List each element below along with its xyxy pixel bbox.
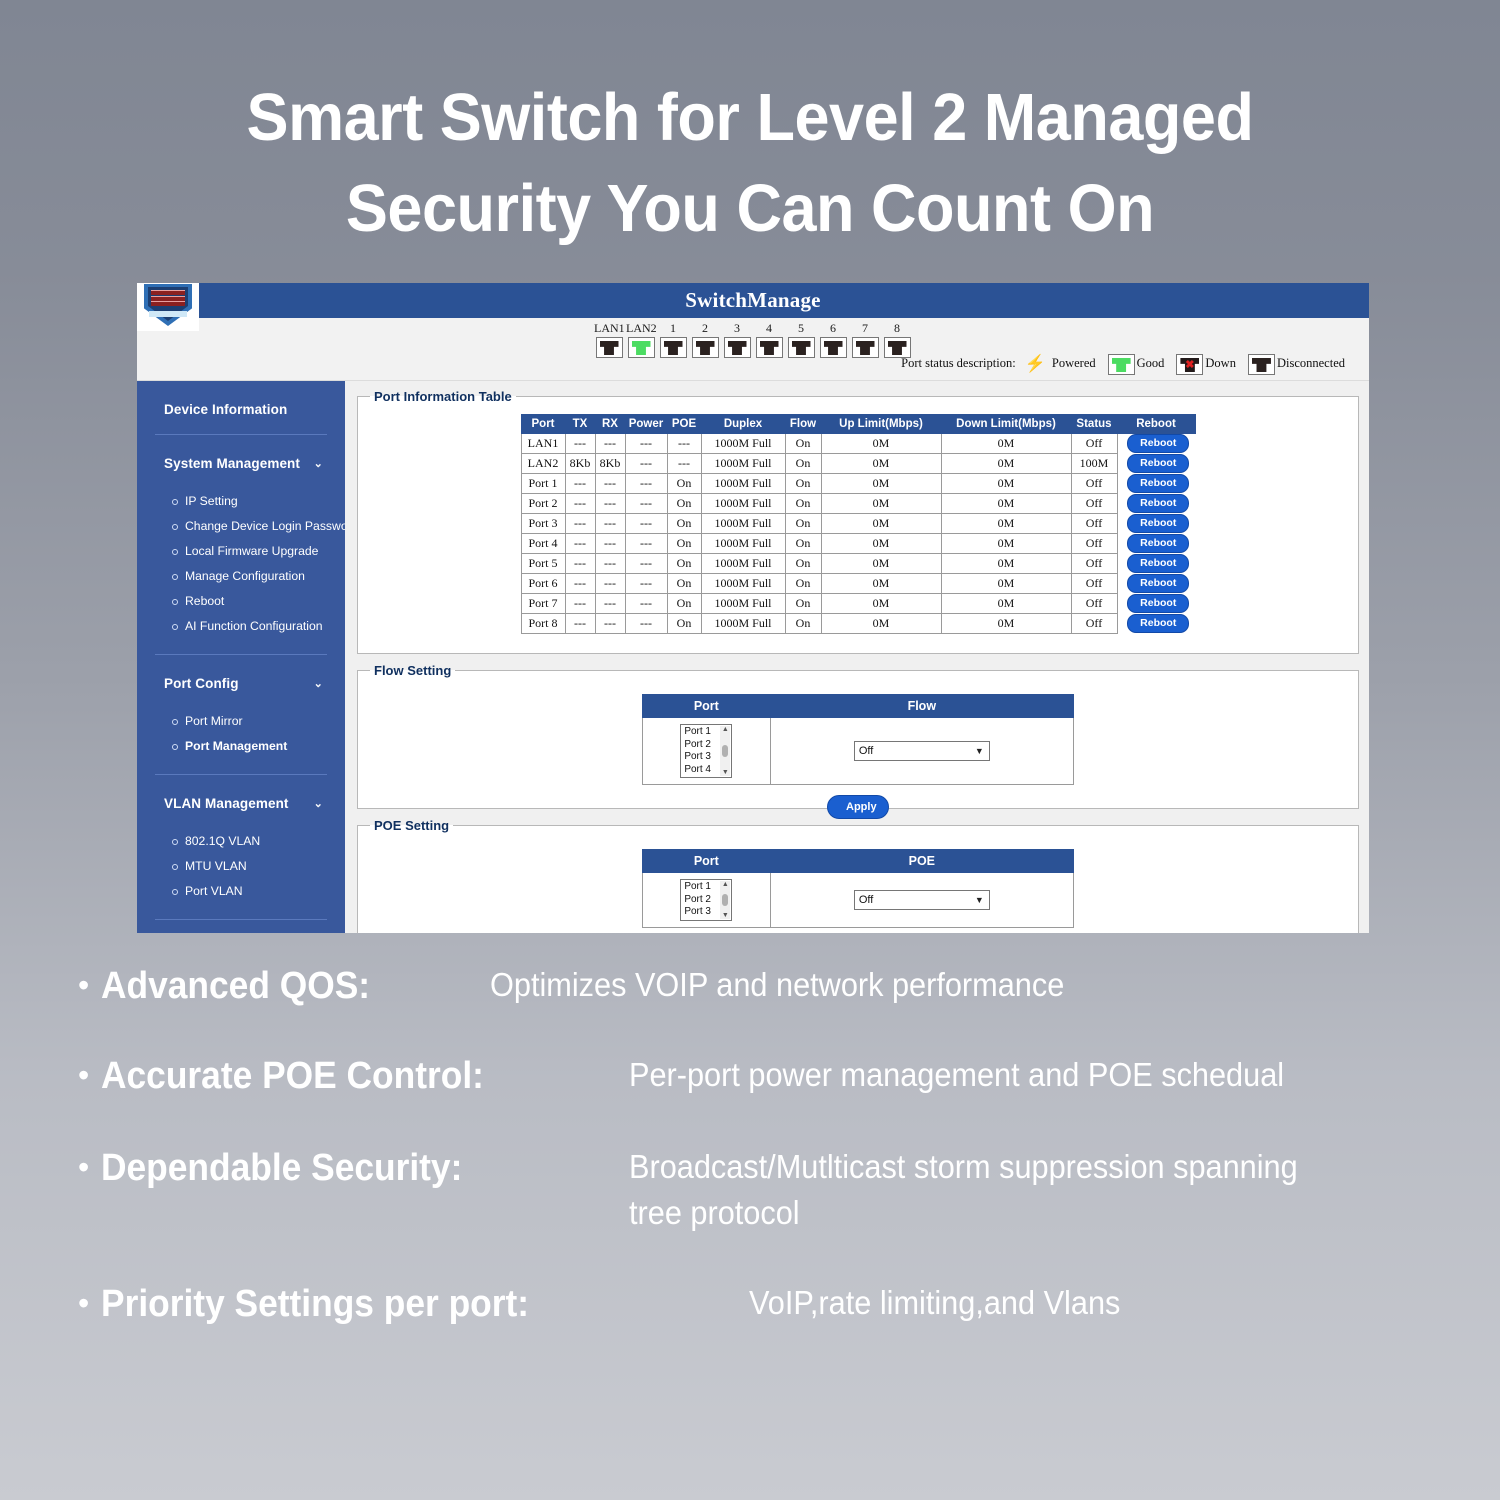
flow-setting-legend: Flow Setting	[370, 663, 455, 678]
flow-apply-button[interactable]: Apply	[827, 795, 889, 819]
cell-power: ---	[625, 474, 667, 494]
port-column-lan1: LAN1	[594, 321, 624, 358]
flow-value-selected: Off	[859, 745, 873, 757]
cell-duplex: 1000M Full	[701, 574, 785, 594]
cell-power: ---	[625, 594, 667, 614]
cell-reboot: Reboot	[1117, 514, 1195, 534]
cell-reboot: Reboot	[1117, 494, 1195, 514]
cell-tx: ---	[565, 614, 595, 634]
feature-description: Per-port power management and POE schedu…	[629, 1052, 1284, 1098]
flow-value-cell: Off ▼	[770, 718, 1073, 785]
powered-bolt-icon: ⚡	[1025, 355, 1046, 372]
port-column-1: 1	[658, 321, 688, 358]
cell-down-limit-mbps: 0M	[941, 474, 1071, 494]
cell-up-limit-mbps: 0M	[821, 534, 941, 554]
table-row: Port 5---------On1000M FullOn0M0MOffRebo…	[521, 554, 1195, 574]
cell-up-limit-mbps: 0M	[821, 494, 941, 514]
table-header-row: PortTXRXPowerPOEDuplexFlowUp Limit(Mbps)…	[521, 415, 1195, 434]
chevron-down-icon: ▼	[975, 893, 984, 907]
reboot-button[interactable]: Reboot	[1127, 454, 1189, 473]
cell-duplex: 1000M Full	[701, 494, 785, 514]
port-status-strip: LAN1LAN212345678 Port status description…	[137, 318, 1369, 381]
column-header-reboot: Reboot	[1117, 415, 1195, 434]
bullet-icon: •	[78, 1280, 89, 1326]
sidebar-group-vlan-management: VLAN Management⌄802.1Q VLANMTU VLANPort …	[137, 775, 345, 919]
cell-status: Off	[1071, 574, 1117, 594]
column-header-power: Power	[625, 415, 667, 434]
cell-tx: ---	[565, 514, 595, 534]
sidebar-item-mtu-vlan[interactable]: MTU VLAN	[155, 853, 327, 878]
feature-row: •Accurate POE Control:Per-port power man…	[78, 1052, 1438, 1100]
cell-poe: On	[667, 514, 701, 534]
sidebar-group-label: Port Config	[164, 676, 239, 691]
cell-down-limit-mbps: 0M	[941, 514, 1071, 534]
table-row: LAN1------------1000M FullOn0M0MOffReboo…	[521, 434, 1195, 454]
cell-port: Port 2	[521, 494, 565, 514]
feature-term: Advanced QOS:	[101, 962, 450, 1010]
content-area: Port Information Table PortTXRXPowerPOED…	[345, 381, 1369, 933]
port-column-5: 5	[786, 321, 816, 358]
column-header-tx: TX	[565, 415, 595, 434]
table-row: Port 3---------On1000M FullOn0M0MOffRebo…	[521, 514, 1195, 534]
legend-disconnected-label: Disconnected	[1277, 356, 1345, 371]
cell-duplex: 1000M Full	[701, 434, 785, 454]
cell-down-limit-mbps: 0M	[941, 534, 1071, 554]
cell-duplex: 1000M Full	[701, 454, 785, 474]
cell-flow: On	[785, 574, 821, 594]
port-label: 5	[786, 321, 816, 335]
cell-down-limit-mbps: 0M	[941, 434, 1071, 454]
cell-port: Port 6	[521, 574, 565, 594]
feature-description: Optimizes VOIP and network performance	[490, 962, 1064, 1008]
app-titlebar: SwitchManage	[137, 283, 1369, 318]
sidebar-item-port-mirror[interactable]: Port Mirror	[155, 708, 327, 733]
page-headline: Smart Switch for Level 2 Managed Securit…	[45, 72, 1455, 254]
cell-duplex: 1000M Full	[701, 534, 785, 554]
feature-term: Accurate POE Control:	[101, 1052, 585, 1100]
poe-setting-legend: POE Setting	[370, 818, 453, 833]
feature-row: •Priority Settings per port:VoIP,rate li…	[78, 1280, 1438, 1328]
reboot-button[interactable]: Reboot	[1127, 474, 1189, 493]
column-header-down-limit-mbps: Down Limit(Mbps)	[941, 415, 1071, 434]
legend-disconnected-jack-icon	[1248, 354, 1275, 375]
cell-status: Off	[1071, 614, 1117, 634]
cell-reboot: Reboot	[1117, 574, 1195, 594]
cell-tx: ---	[565, 534, 595, 554]
column-header-poe: POE	[667, 415, 701, 434]
sidebar-group-header-port-config[interactable]: Port Config⌄	[155, 655, 327, 708]
sidebar-item-ip-setting[interactable]: IP Setting	[155, 488, 327, 513]
cell-down-limit-mbps: 0M	[941, 614, 1071, 634]
legend-good-jack-icon	[1108, 354, 1135, 375]
reboot-button[interactable]: Reboot	[1127, 534, 1189, 553]
cell-rx: 8Kb	[595, 454, 625, 474]
legend-down-label: Down	[1205, 356, 1236, 371]
legend-down-jack-icon: ✖	[1176, 354, 1203, 375]
feature-term: Dependable Security:	[101, 1144, 585, 1192]
sidebar-sublist: IP SettingChange Device Login PasswordLo…	[155, 488, 327, 654]
bullet-icon: •	[78, 1144, 89, 1190]
cell-up-limit-mbps: 0M	[821, 594, 941, 614]
flow-value-header: Flow	[770, 695, 1073, 718]
chevron-down-icon: ▼	[975, 744, 984, 758]
cell-rx: ---	[595, 614, 625, 634]
cell-duplex: 1000M Full	[701, 554, 785, 574]
cell-reboot: Reboot	[1117, 554, 1195, 574]
table-row: Port 2---------On1000M FullOn0M0MOffRebo…	[521, 494, 1195, 514]
cell-down-limit-mbps: 0M	[941, 574, 1071, 594]
port-status-legend-label: Port status description:	[901, 356, 1016, 371]
port-jack-disconnected-icon[interactable]	[660, 337, 687, 358]
sidebar-group-header-device-information[interactable]: Device Information	[155, 381, 327, 434]
port-label: 1	[658, 321, 688, 335]
column-header-rx: RX	[595, 415, 625, 434]
cell-up-limit-mbps: 0M	[821, 454, 941, 474]
cell-power: ---	[625, 574, 667, 594]
cell-duplex: 1000M Full	[701, 614, 785, 634]
cell-rx: ---	[595, 594, 625, 614]
port-column-2: 2	[690, 321, 720, 358]
poe-value-header: POE	[770, 850, 1073, 873]
cell-tx: 8Kb	[565, 454, 595, 474]
headline-line-2: Security You Can Count On	[45, 163, 1455, 254]
cell-status: Off	[1071, 514, 1117, 534]
port-column-lan2: LAN2	[626, 321, 656, 358]
table-row: LAN28Kb8Kb------1000M FullOn0M0M100MRebo…	[521, 454, 1195, 474]
port-jack-disconnected-icon[interactable]	[692, 337, 719, 358]
port-column-3: 3	[722, 321, 752, 358]
sidebar-item-port-vlan[interactable]: Port VLAN	[155, 878, 327, 903]
headline-line-1: Smart Switch for Level 2 Managed	[247, 80, 1254, 155]
cell-rx: ---	[595, 434, 625, 454]
cell-poe: On	[667, 614, 701, 634]
cell-poe: ---	[667, 454, 701, 474]
sidebar-item-change-device-login-password[interactable]: Change Device Login Password	[155, 513, 327, 538]
poe-port-cell: Port 1Port 2Port 3▲▼	[643, 873, 771, 928]
sidebar-group-device-information: Device Information	[137, 381, 345, 434]
brand-logo	[137, 283, 199, 331]
cell-flow: On	[785, 594, 821, 614]
port-information-legend: Port Information Table	[370, 389, 516, 404]
reboot-button[interactable]: Reboot	[1127, 554, 1189, 573]
sidebar-group-label: VLAN Management	[164, 796, 289, 811]
flow-setting-table: Port Flow Port 1Port 2Port 3Port 4▲▼ Off	[642, 694, 1074, 785]
cell-reboot: Reboot	[1117, 534, 1195, 554]
cell-tx: ---	[565, 574, 595, 594]
port-column-7: 7	[850, 321, 880, 358]
shield-logo-icon	[144, 284, 192, 326]
reboot-button[interactable]: Reboot	[1127, 434, 1189, 453]
cell-port: LAN1	[521, 434, 565, 454]
port-label: 6	[818, 321, 848, 335]
reboot-button[interactable]: Reboot	[1127, 574, 1189, 593]
cell-reboot: Reboot	[1117, 434, 1195, 454]
port-label: 3	[722, 321, 752, 335]
port-jack-good-icon[interactable]	[628, 337, 655, 358]
sidebar-sublist: 802.1Q VLANMTU VLANPort VLAN	[155, 828, 327, 919]
cell-up-limit-mbps: 0M	[821, 434, 941, 454]
port-status-legend: Port status description: ⚡ Powered Good …	[901, 352, 1357, 375]
poe-value-selected: Off	[859, 894, 873, 906]
sidebar-group-security: Security⌄Storm ControlPower Supply Adapt…	[137, 920, 345, 933]
sidebar-item-manage-configuration[interactable]: Manage Configuration	[155, 563, 327, 588]
sidebar-item-802-1q-vlan[interactable]: 802.1Q VLAN	[155, 828, 327, 853]
cell-duplex: 1000M Full	[701, 474, 785, 494]
cell-port: LAN2	[521, 454, 565, 474]
chevron-down-icon: ⌄	[314, 677, 323, 690]
cell-port: Port 8	[521, 614, 565, 634]
cell-port: Port 1	[521, 474, 565, 494]
cell-tx: ---	[565, 554, 595, 574]
port-information-table: PortTXRXPowerPOEDuplexFlowUp Limit(Mbps)…	[521, 414, 1196, 634]
cell-up-limit-mbps: 0M	[821, 574, 941, 594]
cell-port: Port 4	[521, 534, 565, 554]
cell-port: Port 3	[521, 514, 565, 534]
port-label: 2	[690, 321, 720, 335]
sidebar-group-header-vlan-management[interactable]: VLAN Management⌄	[155, 775, 327, 828]
bullet-icon: •	[78, 962, 89, 1008]
cell-down-limit-mbps: 0M	[941, 594, 1071, 614]
scroll-down-arrow-icon[interactable]: ▼	[722, 912, 729, 919]
cell-reboot: Reboot	[1117, 454, 1195, 474]
scrollbar-thumb[interactable]	[722, 745, 728, 757]
cell-flow: On	[785, 514, 821, 534]
table-row: Port 7---------On1000M FullOn0M0MOffRebo…	[521, 594, 1195, 614]
feature-description: VoIP,rate limiting,and Vlans	[749, 1280, 1120, 1326]
bullet-icon: •	[78, 1052, 89, 1098]
table-row: Port 8---------On1000M FullOn0M0MOffRebo…	[521, 614, 1195, 634]
listbox-scrollbar[interactable]: ▲▼	[720, 726, 730, 776]
flow-port-cell: Port 1Port 2Port 3Port 4▲▼	[643, 718, 771, 785]
cell-poe: On	[667, 594, 701, 614]
cell-tx: ---	[565, 434, 595, 454]
cell-power: ---	[625, 534, 667, 554]
cell-port: Port 7	[521, 594, 565, 614]
port-jack-disconnected-icon[interactable]	[788, 337, 815, 358]
port-jack-disconnected-icon[interactable]	[724, 337, 751, 358]
scroll-up-arrow-icon[interactable]: ▲	[722, 726, 729, 733]
app-title: SwitchManage	[685, 288, 820, 313]
cell-down-limit-mbps: 0M	[941, 454, 1071, 474]
poe-value-cell: Off ▼	[770, 873, 1073, 928]
cell-rx: ---	[595, 574, 625, 594]
reboot-button[interactable]: Reboot	[1127, 594, 1189, 613]
cell-up-limit-mbps: 0M	[821, 514, 941, 534]
cell-poe: On	[667, 554, 701, 574]
feature-list: •Advanced QOS:Optimizes VOIP and network…	[78, 962, 1438, 1370]
cell-status: Off	[1071, 474, 1117, 494]
flow-value-select[interactable]: Off ▼	[854, 741, 990, 761]
port-label: 7	[850, 321, 880, 335]
reboot-button[interactable]: Reboot	[1127, 494, 1189, 513]
cell-status: Off	[1071, 534, 1117, 554]
cell-down-limit-mbps: 0M	[941, 554, 1071, 574]
cell-status: Off	[1071, 554, 1117, 574]
cell-power: ---	[625, 434, 667, 454]
chevron-down-icon: ⌄	[314, 797, 323, 810]
sidebar-group-label: System Management	[164, 456, 300, 471]
cell-duplex: 1000M Full	[701, 514, 785, 534]
sidebar-nav: Device InformationSystem Management⌄IP S…	[137, 381, 345, 933]
legend-good-label: Good	[1137, 356, 1165, 371]
port-jack-disconnected-icon[interactable]	[756, 337, 783, 358]
listbox-scrollbar[interactable]: ▲▼	[720, 881, 730, 919]
cell-flow: On	[785, 494, 821, 514]
cell-reboot: Reboot	[1117, 614, 1195, 634]
port-label: LAN1	[594, 321, 624, 335]
column-header-duplex: Duplex	[701, 415, 785, 434]
port-label: LAN2	[626, 321, 656, 335]
port-jack-disconnected-icon[interactable]	[596, 337, 623, 358]
switch-admin-ui: SwitchManage LAN1LAN212345678 Port statu…	[137, 283, 1369, 933]
port-label: 4	[754, 321, 784, 335]
cell-status: 100M	[1071, 454, 1117, 474]
feature-description: Broadcast/Mutlticast storm suppression s…	[629, 1144, 1336, 1236]
cell-poe: ---	[667, 434, 701, 454]
cell-power: ---	[625, 554, 667, 574]
ui-body: Device InformationSystem Management⌄IP S…	[137, 381, 1369, 933]
poe-port-listbox[interactable]: Port 1Port 2Port 3▲▼	[680, 879, 732, 921]
cell-port: Port 5	[521, 554, 565, 574]
cell-flow: On	[785, 434, 821, 454]
sidebar-group-system-management: System Management⌄IP SettingChange Devic…	[137, 435, 345, 654]
legend-powered-label: Powered	[1052, 356, 1096, 371]
port-column-4: 4	[754, 321, 784, 358]
cell-status: Off	[1071, 594, 1117, 614]
cell-power: ---	[625, 454, 667, 474]
sidebar-group-label: Device Information	[164, 402, 287, 417]
cell-duplex: 1000M Full	[701, 594, 785, 614]
cell-power: ---	[625, 514, 667, 534]
cell-poe: On	[667, 494, 701, 514]
sidebar-item-port-management[interactable]: Port Management	[155, 733, 327, 758]
flow-setting-section: Flow Setting Port Flow Port 1Port 2Port …	[357, 663, 1359, 809]
cell-rx: ---	[595, 514, 625, 534]
cell-status: Off	[1071, 494, 1117, 514]
poe-port-header: Port	[643, 850, 771, 873]
cell-flow: On	[785, 554, 821, 574]
cell-flow: On	[785, 534, 821, 554]
cell-up-limit-mbps: 0M	[821, 474, 941, 494]
column-header-up-limit-mbps: Up Limit(Mbps)	[821, 415, 941, 434]
table-row: Port 4---------On1000M FullOn0M0MOffRebo…	[521, 534, 1195, 554]
cell-poe: On	[667, 574, 701, 594]
port-jack-disconnected-icon[interactable]	[820, 337, 847, 358]
scroll-up-arrow-icon[interactable]: ▲	[722, 881, 729, 888]
poe-value-select[interactable]: Off ▼	[854, 890, 990, 910]
poe-setting-section: POE Setting Port POE Port 1Port 2Port 3▲…	[357, 818, 1359, 933]
flow-port-header: Port	[643, 695, 771, 718]
reboot-button[interactable]: Reboot	[1127, 514, 1189, 533]
cell-power: ---	[625, 494, 667, 514]
cell-tx: ---	[565, 474, 595, 494]
cell-status: Off	[1071, 434, 1117, 454]
cell-rx: ---	[595, 554, 625, 574]
cell-poe: On	[667, 474, 701, 494]
table-row: Port 1---------On1000M FullOn0M0MOffRebo…	[521, 474, 1195, 494]
scroll-down-arrow-icon[interactable]: ▼	[722, 769, 729, 776]
port-jack-row: LAN1LAN212345678	[594, 321, 914, 358]
port-jack-disconnected-icon[interactable]	[852, 337, 879, 358]
column-header-status: Status	[1071, 415, 1117, 434]
cell-rx: ---	[595, 534, 625, 554]
cell-flow: On	[785, 454, 821, 474]
cell-poe: On	[667, 534, 701, 554]
cell-rx: ---	[595, 494, 625, 514]
sidebar-item-reboot[interactable]: Reboot	[155, 588, 327, 613]
cell-tx: ---	[565, 594, 595, 614]
column-header-port: Port	[521, 415, 565, 434]
cell-down-limit-mbps: 0M	[941, 494, 1071, 514]
column-header-flow: Flow	[785, 415, 821, 434]
sidebar-item-local-firmware-upgrade[interactable]: Local Firmware Upgrade	[155, 538, 327, 563]
cell-rx: ---	[595, 474, 625, 494]
feature-term: Priority Settings per port:	[101, 1280, 696, 1328]
port-label: 8	[882, 321, 912, 335]
cell-up-limit-mbps: 0M	[821, 614, 941, 634]
reboot-button[interactable]: Reboot	[1127, 614, 1189, 633]
cell-tx: ---	[565, 494, 595, 514]
cell-flow: On	[785, 474, 821, 494]
poe-setting-table: Port POE Port 1Port 2Port 3▲▼ Off	[642, 849, 1074, 928]
cell-up-limit-mbps: 0M	[821, 554, 941, 574]
port-information-section: Port Information Table PortTXRXPowerPOED…	[357, 389, 1359, 654]
feature-row: •Advanced QOS:Optimizes VOIP and network…	[78, 962, 1438, 1010]
cell-flow: On	[785, 614, 821, 634]
sidebar-group-header-system-management[interactable]: System Management⌄	[155, 435, 327, 488]
cell-power: ---	[625, 614, 667, 634]
feature-row: •Dependable Security:Broadcast/Mutlticas…	[78, 1144, 1438, 1236]
scrollbar-thumb[interactable]	[722, 894, 728, 906]
cell-reboot: Reboot	[1117, 594, 1195, 614]
sidebar-group-port-config: Port Config⌄Port MirrorPort Management	[137, 655, 345, 774]
port-column-6: 6	[818, 321, 848, 358]
cell-reboot: Reboot	[1117, 474, 1195, 494]
sidebar-group-header-security[interactable]: Security⌄	[155, 920, 327, 933]
flow-port-listbox[interactable]: Port 1Port 2Port 3Port 4▲▼	[680, 724, 732, 778]
sidebar-sublist: Port MirrorPort Management	[155, 708, 327, 774]
chevron-down-icon: ⌄	[314, 457, 323, 470]
sidebar-item-ai-function-configuration[interactable]: AI Function Configuration	[155, 613, 327, 638]
table-row: Port 6---------On1000M FullOn0M0MOffRebo…	[521, 574, 1195, 594]
